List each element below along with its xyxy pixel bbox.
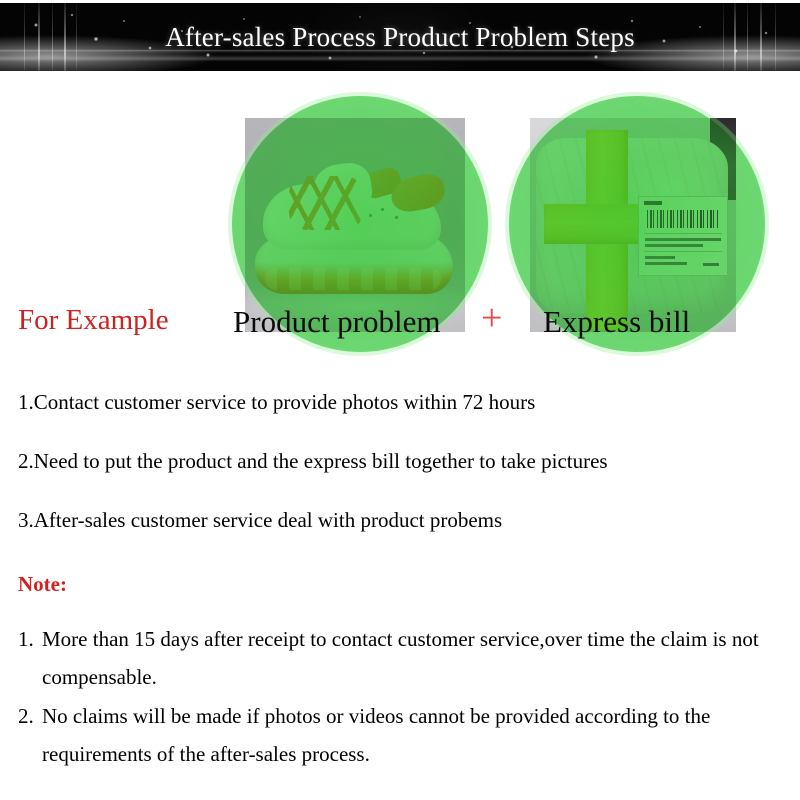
sneaker-eyelet (381, 208, 384, 211)
shipping-label-text-line (645, 256, 675, 259)
sneaker-illustration (251, 158, 459, 298)
express-bill-caption: Express bill (543, 304, 690, 340)
note-item-marker: 2. (18, 697, 34, 735)
process-steps-list: 1.Contact customer service to provide ph… (18, 392, 788, 569)
express-bill-photo (530, 118, 736, 332)
note-item-marker: 1. (18, 620, 34, 658)
process-step-2: 2.Need to put the product and the expres… (18, 451, 788, 472)
shipping-label-divider (644, 233, 722, 234)
shipping-label (638, 196, 728, 276)
plus-icon: + (481, 299, 502, 337)
note-item: 1. More than 15 days after receipt to co… (18, 620, 790, 696)
shipping-label-text-line (645, 244, 703, 247)
product-problem-caption: Product problem (233, 304, 441, 340)
product-photo-frame (245, 118, 465, 332)
note-heading: Note: (18, 572, 67, 597)
sneaker-eyelet (395, 216, 398, 219)
note-item: 2. No claims will be made if photos or v… (18, 697, 790, 773)
sneaker-sole-texture (265, 268, 441, 290)
process-step-3: 3.After-sales customer service deal with… (18, 510, 788, 531)
shipping-label-header-mark (644, 201, 662, 205)
shipping-label-divider (644, 251, 722, 252)
sneaker-laces (289, 176, 363, 230)
page-title: After-sales Process Product Problem Step… (0, 3, 800, 71)
note-item-text: No claims will be made if photos or vide… (42, 704, 710, 766)
express-photo-frame (530, 118, 736, 332)
shipping-label-text-line (645, 262, 687, 265)
shipping-label-text-line (703, 263, 719, 266)
barcode-icon (647, 210, 719, 228)
note-item-text: More than 15 days after receipt to conta… (42, 627, 759, 689)
note-list: 1. More than 15 days after receipt to co… (18, 620, 790, 774)
process-step-1: 1.Contact customer service to provide ph… (18, 392, 788, 413)
sneaker-eyelet (369, 214, 372, 217)
shipping-label-text-line (645, 238, 721, 241)
product-problem-photo (245, 118, 465, 332)
for-example-label: For Example (18, 304, 169, 337)
page-header-banner: After-sales Process Product Problem Step… (0, 3, 800, 71)
example-section: For Example (0, 96, 800, 356)
